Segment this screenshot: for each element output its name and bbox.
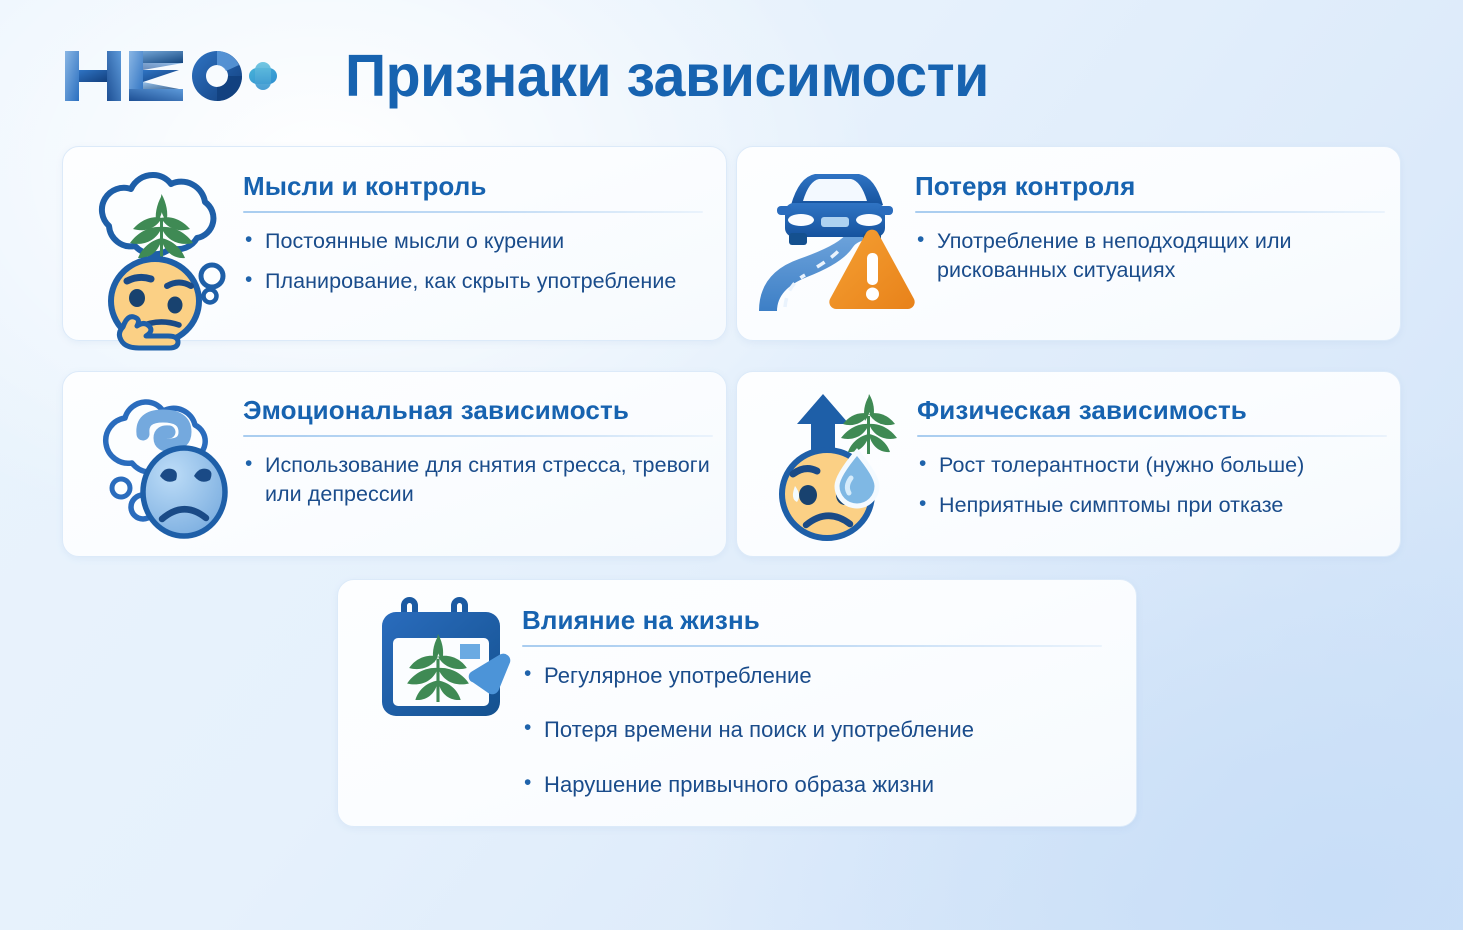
card-physical-dependence-divider <box>917 435 1387 437</box>
card-thoughts: Мысли и контроль Постоянные мысли о куре… <box>62 146 727 341</box>
card-loss-of-control: Потеря контроля Употребление в неподходя… <box>736 146 1401 341</box>
sad-blue-face-thought-bubble-icon <box>99 388 249 543</box>
list-item: Потеря времени на поиск и употребление <box>522 715 1102 744</box>
list-item: Использование для снятия стресса, тревог… <box>243 451 713 509</box>
car-road-warning-triangle-icon <box>755 165 915 310</box>
card-emotional-dependence-title: Эмоциональная зависимость <box>243 395 713 426</box>
thinking-face-cannabis-thought-bubble-icon <box>89 164 244 344</box>
card-emotional-dependence-bullets: Использование для снятия стресса, тревог… <box>243 451 713 509</box>
neo-plus-logo <box>63 45 278 107</box>
list-item: Употребление в неподходящих или рискован… <box>915 227 1385 285</box>
card-physical-dependence-title: Физическая зависимость <box>917 395 1387 426</box>
card-thoughts-divider <box>243 211 703 213</box>
card-loss-of-control-body: Потеря контроля Употребление в неподходя… <box>915 171 1385 285</box>
card-impact-on-life-divider <box>522 645 1102 647</box>
page-title: Признаки зависимости <box>345 42 989 110</box>
card-loss-of-control-bullets: Употребление в неподходящих или рискован… <box>915 227 1385 285</box>
list-item: Регулярное употребление <box>522 661 1102 690</box>
list-item: Неприятные симптомы при отказе <box>917 491 1387 520</box>
card-impact-on-life-bullets: Регулярное употребление Потеря времени н… <box>522 661 1102 799</box>
card-emotional-dependence-body: Эмоциональная зависимость Использование … <box>243 395 713 509</box>
list-item: Планирование, как скрыть употребление <box>243 267 703 296</box>
card-thoughts-body: Мысли и контроль Постоянные мысли о куре… <box>243 171 703 296</box>
card-emotional-dependence-divider <box>243 435 713 437</box>
card-physical-dependence-body: Физическая зависимость Рост толерантност… <box>917 395 1387 520</box>
card-loss-of-control-divider <box>915 211 1385 213</box>
card-loss-of-control-title: Потеря контроля <box>915 171 1385 202</box>
card-thoughts-title: Мысли и контроль <box>243 171 703 202</box>
list-item: Постоянные мысли о курении <box>243 227 703 256</box>
card-emotional-dependence: Эмоциональная зависимость Использование … <box>62 371 727 557</box>
list-item: Рост толерантности (нужно больше) <box>917 451 1387 480</box>
card-physical-dependence-bullets: Рост толерантности (нужно больше) Неприя… <box>917 451 1387 520</box>
card-impact-on-life: Влияние на жизнь Регулярное употребление… <box>337 579 1137 827</box>
card-thoughts-bullets: Постоянные мысли о курении Планирование,… <box>243 227 703 296</box>
page-header: Признаки зависимости <box>0 0 1463 140</box>
card-impact-on-life-title: Влияние на жизнь <box>522 605 1102 636</box>
up-arrow-cannabis-sweating-face-icon <box>765 382 917 542</box>
card-impact-on-life-body: Влияние на жизнь Регулярное употребление… <box>522 605 1102 824</box>
calendar-cannabis-check-icon <box>376 598 518 720</box>
card-physical-dependence: Физическая зависимость Рост толерантност… <box>736 371 1401 557</box>
list-item: Нарушение привычного образа жизни <box>522 770 1102 799</box>
